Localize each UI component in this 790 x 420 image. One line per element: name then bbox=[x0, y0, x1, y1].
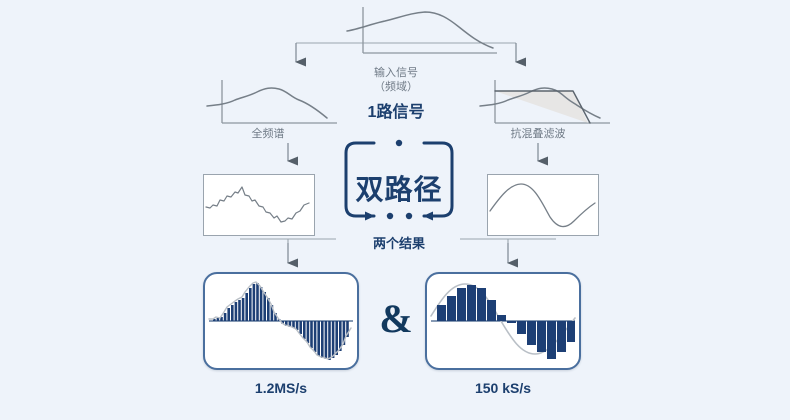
anti-alias-filter-chart bbox=[478, 78, 618, 130]
wideband-waveform-panel bbox=[203, 174, 315, 236]
input-spectrum-chart bbox=[345, 5, 505, 61]
diagram-canvas: 输入信号 （频域） 1路信号 全频谱 抗混叠滤波 bbox=[0, 0, 790, 420]
wideband-waveform-trace bbox=[204, 175, 314, 235]
low-rate-sampling-box bbox=[425, 272, 581, 370]
dual-path-label: 双路径 bbox=[351, 168, 447, 208]
low-rate-bars bbox=[437, 285, 575, 359]
two-results-label: 两个结果 bbox=[349, 233, 449, 252]
anti-alias-filter-caption: 抗混叠滤波 bbox=[478, 127, 598, 141]
one-channel-signal-label: 1路信号 bbox=[346, 98, 446, 122]
ampersand-conjunction: & bbox=[378, 295, 414, 342]
input-signal-caption-line1: 输入信号 bbox=[374, 67, 418, 79]
filtered-sine-panel bbox=[487, 174, 599, 236]
high-rate-sampling-chart bbox=[205, 274, 357, 368]
low-rate-label: 150 kS/s bbox=[428, 380, 578, 396]
filtered-sine-trace bbox=[488, 175, 598, 235]
low-rate-sampling-chart bbox=[427, 274, 579, 368]
full-spectrum-caption: 全频谱 bbox=[208, 127, 328, 141]
high-rate-label: 1.2MS/s bbox=[206, 380, 356, 396]
high-rate-sampling-box bbox=[203, 272, 359, 370]
input-signal-caption: 输入信号 （频域） bbox=[346, 66, 446, 94]
full-spectrum-chart bbox=[205, 78, 345, 130]
input-signal-caption-line2: （频域） bbox=[374, 81, 418, 93]
